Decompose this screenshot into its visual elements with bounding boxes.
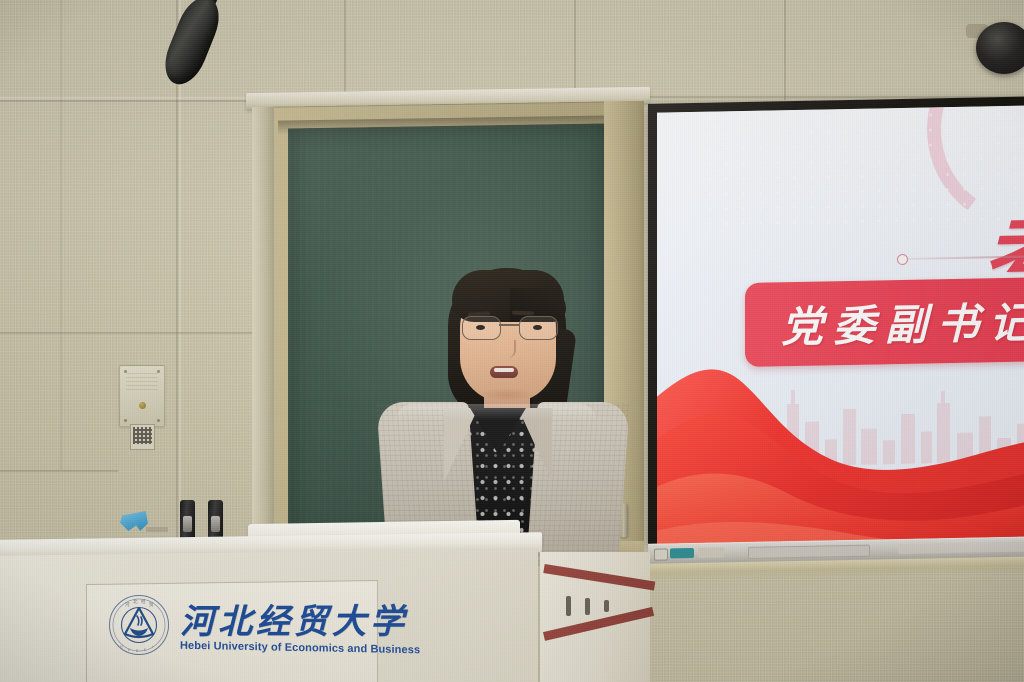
- qr-code-pattern: [133, 427, 152, 444]
- display-status-light: [670, 548, 694, 558]
- display-power-indicator[interactable]: [654, 548, 668, 560]
- interactive-display[interactable]: 考 党委副书记: [648, 96, 1024, 574]
- presenter-eyebrow: [512, 311, 534, 316]
- presenter-eye: [476, 325, 485, 330]
- wall-seam-highlight: [0, 97, 260, 99]
- display-screen[interactable]: 考 党委副书记: [657, 105, 1024, 564]
- wall-seam-horizontal: [0, 100, 260, 102]
- svg-text:E: E: [128, 648, 130, 652]
- lecture-hall-photo: 考 党委副书记: [0, 0, 1024, 682]
- slide-red-waves: [657, 347, 1024, 564]
- glasses-lens-left: [462, 316, 501, 340]
- wall-plate-etching: [126, 372, 158, 390]
- lectern-stripe-bottom: [543, 607, 654, 641]
- display-speaker-grille: [898, 542, 1024, 554]
- lectern-stripe-top: [543, 564, 655, 590]
- lectern-side-panel: [540, 552, 650, 682]
- glasses-lens-right: [519, 316, 558, 340]
- slide-banner-text: 党委副书记: [781, 289, 1024, 355]
- svg-text:E: E: [144, 648, 146, 652]
- display-label-strip: [698, 547, 724, 557]
- qr-code-sticker: [130, 424, 155, 450]
- wall-seam-horizontal: [0, 332, 254, 334]
- presenter-mouth: [490, 366, 518, 378]
- display-speaker-grille: [748, 545, 870, 559]
- wall-seam-vertical: [344, 0, 346, 100]
- wall-seam-vertical: [574, 0, 576, 96]
- wall-control-plate[interactable]: [119, 365, 165, 427]
- lectern-slot: [566, 596, 571, 616]
- presenter-shoulder-highlight: [396, 404, 596, 420]
- presenter: [396, 262, 626, 562]
- presenter-glasses: [462, 316, 556, 340]
- microphone-windscreen: [211, 516, 220, 532]
- svg-text:北: 北: [133, 598, 138, 605]
- wall-plate-screw: [124, 370, 127, 373]
- svg-text:I: I: [152, 645, 153, 649]
- svg-text:贸: 贸: [149, 601, 154, 608]
- lectern-branding: 河北经贸 HEBEI 河北经贸大学 Hebei University of Ec…: [108, 592, 378, 668]
- lectern-slot: [604, 600, 609, 612]
- podium-tag-sticker: [146, 527, 168, 532]
- wall-seam-vertical: [60, 0, 62, 470]
- wall-seam-horizontal: [0, 470, 118, 472]
- wall-plate-knob[interactable]: [139, 402, 146, 409]
- slide-halftone-dots: [701, 105, 1024, 232]
- dome-camera-lens: [976, 22, 1024, 74]
- glasses-bridge: [499, 324, 519, 326]
- presentation-slide: 考 党委副书记: [657, 105, 1024, 564]
- microphone-windscreen: [183, 516, 192, 532]
- presenter-nose: [502, 340, 516, 358]
- svg-text:河: 河: [125, 601, 130, 608]
- blackboard-left-rail: [252, 107, 274, 547]
- svg-text:经: 经: [141, 598, 146, 605]
- lectern-logo-chinese: 河北经贸大学: [180, 594, 408, 643]
- wall-plate-screw: [157, 419, 160, 422]
- wall-seam-vertical: [784, 0, 786, 100]
- university-seal: 河北经贸 HEBEI: [108, 594, 170, 656]
- presenter-chin-shadow: [478, 388, 536, 402]
- lectern-slot: [585, 598, 590, 615]
- wall-plate-screw: [157, 370, 160, 373]
- ceiling-dome-camera: [976, 22, 1024, 74]
- presenter-eye: [533, 325, 542, 330]
- wall-plate-screw: [124, 419, 127, 422]
- svg-text:H: H: [120, 645, 123, 649]
